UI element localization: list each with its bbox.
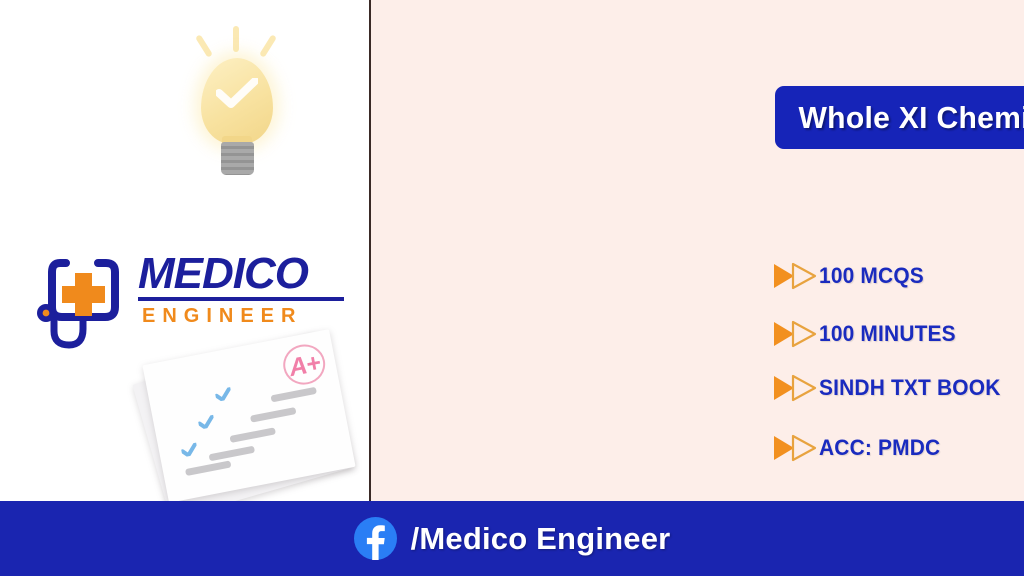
bulb-base [221, 142, 254, 175]
lightbulb-check-icon [183, 26, 293, 171]
stethoscope-cross-icon [36, 247, 140, 353]
poster-canvas: MEDICO ENGINEER A+ [0, 0, 1024, 576]
social-handle[interactable]: /Medico Engineer [411, 521, 671, 557]
bulb-check-mark-icon [216, 78, 258, 108]
list-item: 100 MINUTES [771, 310, 1024, 358]
double-arrow-icon [771, 373, 819, 403]
footer-bar: /Medico Engineer [0, 501, 1024, 576]
bulb-ray [259, 34, 277, 58]
graded-test-paper-icon: A+ [148, 342, 363, 501]
page-title: Whole XI Chemistry MDCAT Test 2024 [798, 100, 1024, 136]
title-banner: Whole XI Chemistry MDCAT Test 2024 [775, 86, 1024, 149]
paper-check-icon [197, 415, 215, 430]
list-item-label: ACC: PMDC [819, 435, 940, 461]
bulb-ray [195, 34, 213, 58]
double-arrow-icon [771, 261, 819, 291]
list-item-label: 100 MINUTES [819, 321, 956, 347]
bulb-ray [233, 26, 239, 52]
logo-wordmark: MEDICO ENGINEER [138, 253, 353, 328]
logo-secondary-text: ENGINEER [138, 305, 353, 328]
list-item: ACC: PMDC [771, 424, 1024, 472]
logo-primary-text: MEDICO [138, 253, 353, 295]
double-arrow-icon [771, 433, 819, 463]
paper-text-line [250, 407, 296, 423]
list-item-label: SINDH TXT BOOK [819, 375, 1000, 401]
right-content-panel: Whole XI Chemistry MDCAT Test 2024 100 M… [371, 0, 1024, 501]
list-item-label: 100 MCQS [819, 263, 924, 289]
facebook-icon[interactable] [354, 517, 397, 560]
list-item: 100 MCQS [771, 252, 1024, 300]
paper-text-line [185, 460, 231, 476]
paper-text-line [270, 387, 316, 403]
list-item: SINDH TXT BOOK [771, 364, 1024, 412]
paper-check-icon [214, 387, 232, 402]
feature-list: 100 MCQS 100 MINUTES SINDH TXT BOOK [771, 252, 1024, 472]
left-brand-panel: MEDICO ENGINEER A+ [0, 0, 369, 501]
paper-text-line [229, 427, 275, 443]
paper-text-line [209, 446, 255, 462]
paper-check-icon [180, 443, 198, 458]
double-arrow-icon [771, 319, 819, 349]
grade-badge: A+ [280, 341, 329, 388]
